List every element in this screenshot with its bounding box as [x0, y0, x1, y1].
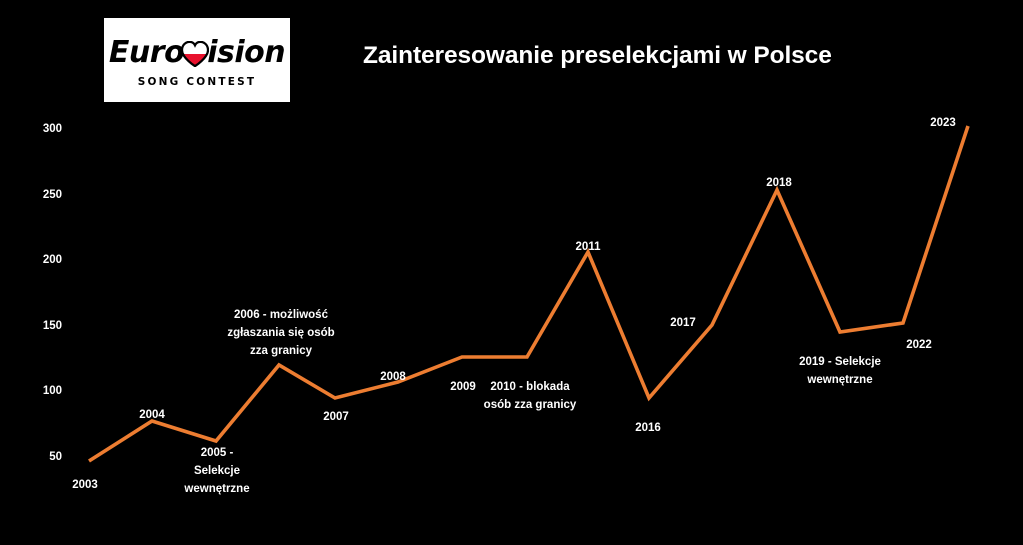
y-axis-tick-150: 150: [18, 320, 62, 332]
annotation-a2023: 2023: [930, 115, 956, 133]
y-axis-tick-50: 50: [18, 451, 62, 463]
annotation-a2008: 2008: [380, 369, 406, 387]
annotation-a2009: 2009: [450, 379, 476, 397]
y-axis-tick-250: 250: [18, 189, 62, 201]
annotation-a2005: 2005 - Selekcje wewnętrzne: [184, 445, 249, 498]
annotation-a2011: 2011: [576, 239, 601, 257]
annotation-a2004: 2004: [139, 407, 165, 425]
y-axis-tick-300: 300: [18, 123, 62, 135]
y-axis-tick-200: 200: [18, 254, 62, 266]
annotation-a2010: 2010 - blokada osób zza granicy: [484, 379, 577, 415]
line-chart-plot: [0, 0, 1023, 545]
annotation-a2019: 2019 - Selekcje wewnętrzne: [799, 354, 881, 390]
y-axis-tick-100: 100: [18, 385, 62, 397]
annotation-a2006: 2006 - możliwość zgłaszania się osób zza…: [227, 307, 334, 360]
chart-screenshot: Euro ision SONG CONTEST: [0, 0, 1023, 545]
annotation-a2016: 2016: [635, 420, 661, 438]
annotation-a2022: 2022: [906, 337, 932, 355]
annotation-a2018: 2018: [766, 175, 792, 193]
annotation-a2007: 2007: [323, 409, 349, 427]
annotation-a2003: 2003: [72, 477, 98, 495]
annotation-a2017: 2017: [670, 315, 696, 333]
